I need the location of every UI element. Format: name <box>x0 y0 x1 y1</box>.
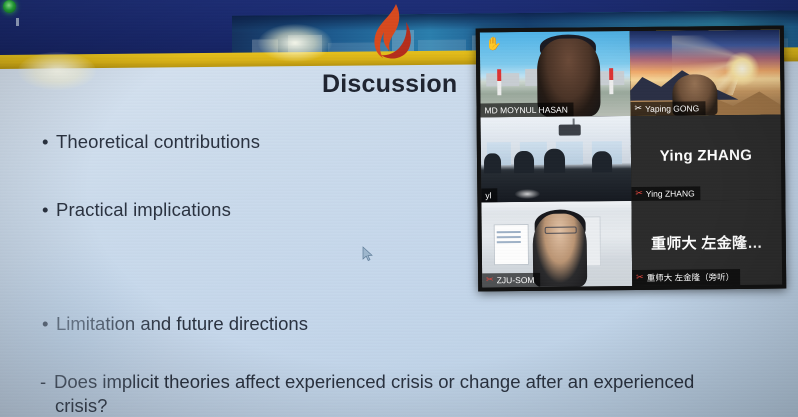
tile-conference-room[interactable]: yl <box>481 116 632 202</box>
bullet-marker: • <box>42 313 56 335</box>
participant-name: 重师大 左金隆（旁听） <box>647 271 734 284</box>
mic-muted-icon: ✂ <box>636 273 644 282</box>
page-title: Discussion <box>322 70 457 99</box>
participant-name-label: ✂ ZJU-SOM <box>482 273 540 288</box>
video-grid-left-column: ✋ MD MOYNUL HASAN <box>480 31 632 287</box>
question-line-2: crisis? <box>55 394 780 417</box>
participant-name-label: ✂ Ying ZHANG <box>631 186 700 201</box>
projector-in-frame <box>559 125 581 136</box>
bullet-text: Practical implications <box>56 199 231 220</box>
participant-center-name: Ying ZHANG <box>631 147 781 165</box>
screen-speck <box>16 18 19 26</box>
flame-logo-icon <box>372 2 412 74</box>
tile-zuo-jinlong[interactable]: 重师大 左金隆… ✂ 重师大 左金隆（旁听） <box>631 200 782 286</box>
slide-bullet-list: •Theoretical contributions •Practical im… <box>42 130 472 266</box>
participant-name-label: ✂ Yaping GONG <box>630 101 705 116</box>
bullet-marker: • <box>42 198 56 221</box>
bullet-item-3: •Limitation and future directions <box>42 313 308 335</box>
participant-video-feed <box>481 116 632 202</box>
slide-question: -Does implicit theories affect experienc… <box>40 370 780 417</box>
mic-muted-icon: ✂ <box>635 189 643 198</box>
dash-marker: - <box>40 370 54 394</box>
participant-name-label: ✂ 重师大 左金隆（旁听） <box>632 269 740 286</box>
bullet-marker: • <box>42 130 56 153</box>
participant-center-name: 重师大 左金隆… <box>632 232 782 254</box>
power-led-icon <box>3 0 16 13</box>
projected-screen: Discussion •Theoretical contributions •P… <box>0 0 798 417</box>
question-line-1: Does implicit theories affect experience… <box>54 371 694 392</box>
tile-zju-som[interactable]: ✂ ZJU-SOM <box>481 201 632 287</box>
bullet-text: Theoretical contributions <box>56 131 260 152</box>
participant-name-label: yl <box>481 188 497 202</box>
bullet-item-2: •Practical implications <box>42 198 472 221</box>
raised-hand-icon: ✋ <box>486 37 502 50</box>
tile-ying-zhang[interactable]: Ying ZHANG ✂ Ying ZHANG <box>631 115 782 201</box>
mic-muted-icon: ✂ <box>486 276 494 285</box>
bullet-text: Limitation and future directions <box>56 313 308 334</box>
participant-name: ZJU-SOM <box>497 275 535 285</box>
video-participant-grid[interactable]: ✋ MD MOYNUL HASAN <box>476 26 787 292</box>
bullet-item-1: •Theoretical contributions <box>42 130 472 153</box>
tile-md-moynul-hasan[interactable]: ✋ MD MOYNUL HASAN <box>480 31 631 117</box>
mic-muted-icon: ✂ <box>634 104 642 113</box>
participant-name: Ying ZHANG <box>646 188 695 198</box>
participant-name: MD MOYNUL HASAN <box>484 105 567 116</box>
video-grid-right-column: ✂ Yaping GONG Ying ZHANG ✂ Ying ZHANG 重师… <box>630 30 782 286</box>
participant-name: Yaping GONG <box>645 103 699 114</box>
mouse-pointer-icon <box>362 246 374 262</box>
participant-name: yl <box>485 190 491 200</box>
participant-name-label: MD MOYNUL HASAN <box>480 103 573 118</box>
tile-yaping-gong[interactable]: ✂ Yaping GONG <box>630 30 781 116</box>
